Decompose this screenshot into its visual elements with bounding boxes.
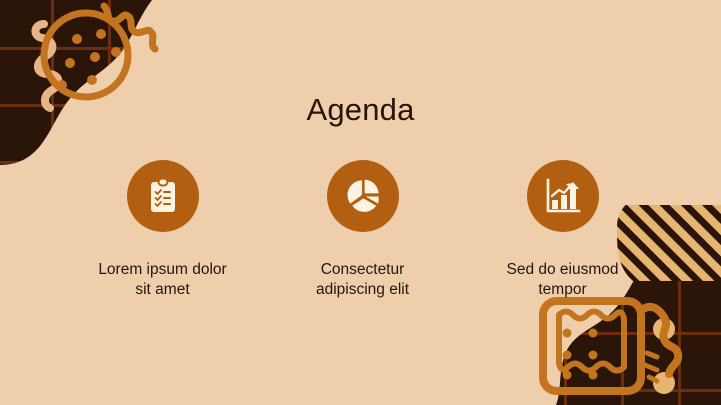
agenda-item-1[interactable]: Lorem ipsum dolor sit amet — [70, 160, 255, 301]
page-title: Agenda — [0, 92, 721, 128]
agenda-item-3-icon-circle[interactable] — [527, 160, 599, 232]
clipboard-checklist-icon — [144, 177, 182, 215]
agenda-item-2[interactable]: Consectetur adipiscing elit — [270, 160, 455, 301]
slide-canvas: Agenda Lorem ipsum dolor si — [0, 0, 721, 405]
bar-chart-growth-icon — [544, 177, 582, 215]
slide-content: Agenda Lorem ipsum dolor si — [0, 0, 721, 405]
agenda-items-row: Lorem ipsum dolor sit amet Consectetur a… — [70, 160, 655, 301]
agenda-item-3[interactable]: Sed do eiusmod tempor — [470, 160, 655, 301]
pie-chart-icon — [345, 178, 381, 214]
agenda-item-2-label: Consectetur adipiscing elit — [316, 260, 409, 301]
agenda-item-1-label: Lorem ipsum dolor sit amet — [98, 260, 226, 301]
agenda-item-2-icon-circle[interactable] — [327, 160, 399, 232]
agenda-item-1-icon-circle[interactable] — [127, 160, 199, 232]
agenda-item-3-label: Sed do eiusmod tempor — [506, 260, 618, 301]
